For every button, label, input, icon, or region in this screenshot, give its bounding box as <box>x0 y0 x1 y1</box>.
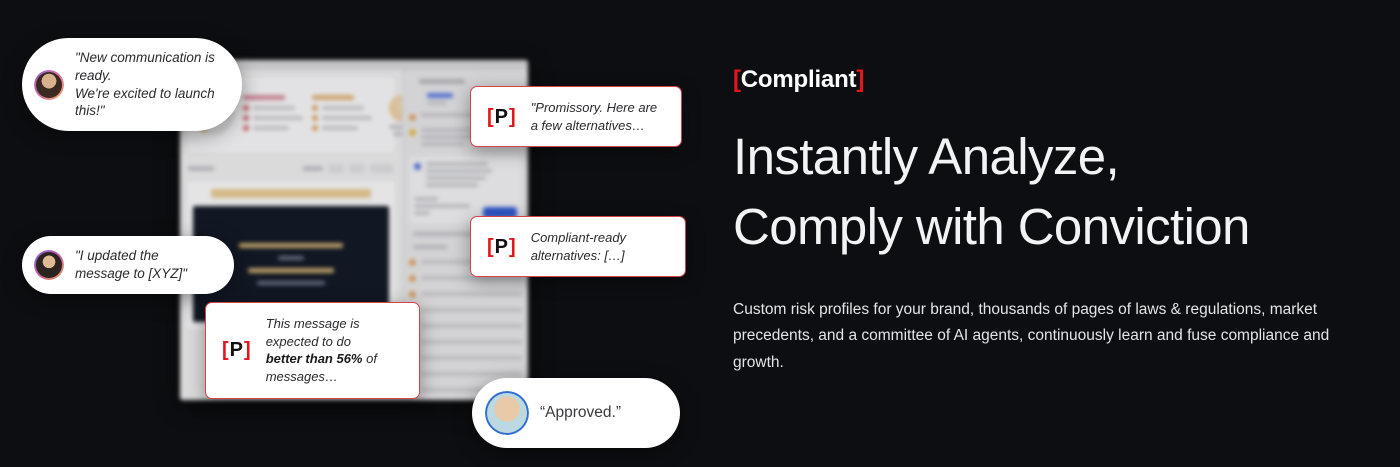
bubble-new-communication: "New communication is ready. We're excit… <box>22 38 242 131</box>
hero-visual: 48% <box>0 0 700 467</box>
bracket-close: ] <box>856 66 864 93</box>
card-promissory: [P] "Promissory. Here are a few alternat… <box>470 86 682 147</box>
mockup-email-offer-banner <box>211 189 371 198</box>
bubble-text: "I updated the message to [XYZ]" <box>75 247 187 283</box>
mockup-section-heading-2 <box>413 245 447 249</box>
card-text: This message is expected to do better th… <box>266 315 377 386</box>
card-text: "Promissory. Here are a few alternatives… <box>531 99 657 134</box>
headline-line-1: Instantly Analyze, <box>733 122 1393 192</box>
bubble-text: "New communication is ready. We're excit… <box>75 49 216 120</box>
mockup-panel-tab[interactable] <box>427 101 447 105</box>
mockup-toolbar[interactable] <box>186 160 396 180</box>
bubble-text: “Approved.” <box>540 403 621 423</box>
avatar-reviewer <box>485 391 529 435</box>
card-text: Compliant-ready alternatives: […] <box>531 229 626 264</box>
headline-line-2: Comply with Conviction <box>733 192 1393 262</box>
card-compliant-ready: [P] Compliant-ready alternatives: […] <box>470 216 686 277</box>
eyebrow-badge-compliant: [Compliant] <box>733 66 1393 94</box>
card-better-than: [P] This message is expected to do bette… <box>205 302 420 399</box>
p-logo-icon: [P] <box>222 340 252 360</box>
mockup-analysis-detail <box>409 156 522 224</box>
mockup-panel-tab-active[interactable] <box>427 93 453 98</box>
card-text-emphasis: better than 56% <box>266 351 363 366</box>
p-logo-icon: [P] <box>487 237 517 257</box>
bracket-open: [ <box>733 66 741 93</box>
p-logo-icon: [P] <box>487 107 517 127</box>
bubble-updated-message: "I updated the message to [XYZ]" <box>22 236 234 294</box>
hero-subtext: Custom risk profiles for your brand, tho… <box>733 297 1358 377</box>
mockup-panel-title <box>419 79 465 84</box>
page-title: Instantly Analyze, Comply with Convictio… <box>733 122 1393 263</box>
hero-copy: [Compliant] Instantly Analyze, Comply wi… <box>733 0 1393 467</box>
low-risk-column <box>312 95 372 135</box>
avatar-team-member <box>34 70 64 100</box>
bubble-approved: “Approved.” <box>472 378 680 448</box>
high-risk-column <box>243 95 303 135</box>
eyebrow-label: Compliant <box>741 66 857 93</box>
hero-section: 48% <box>0 0 1400 467</box>
card-text-pre: This message is expected to do <box>266 316 360 349</box>
avatar-marketer <box>34 250 64 280</box>
